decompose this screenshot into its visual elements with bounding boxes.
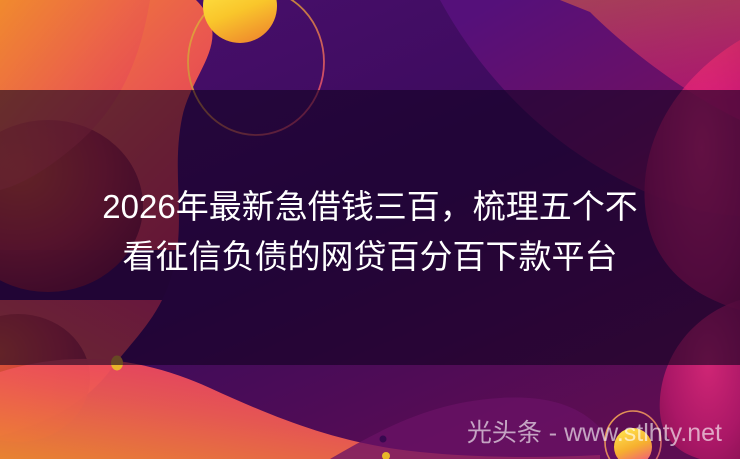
tiny-dot-dark — [380, 436, 387, 443]
background-artwork — [0, 0, 740, 459]
small-yellow-dot-shape — [111, 356, 123, 371]
banner-card: 2026年最新急借钱三百，梳理五个不 看征信负债的网贷百分百下款平台 光头条 -… — [0, 0, 740, 459]
site-watermark: 光头条 - www.stlhty.net — [467, 418, 722, 448]
